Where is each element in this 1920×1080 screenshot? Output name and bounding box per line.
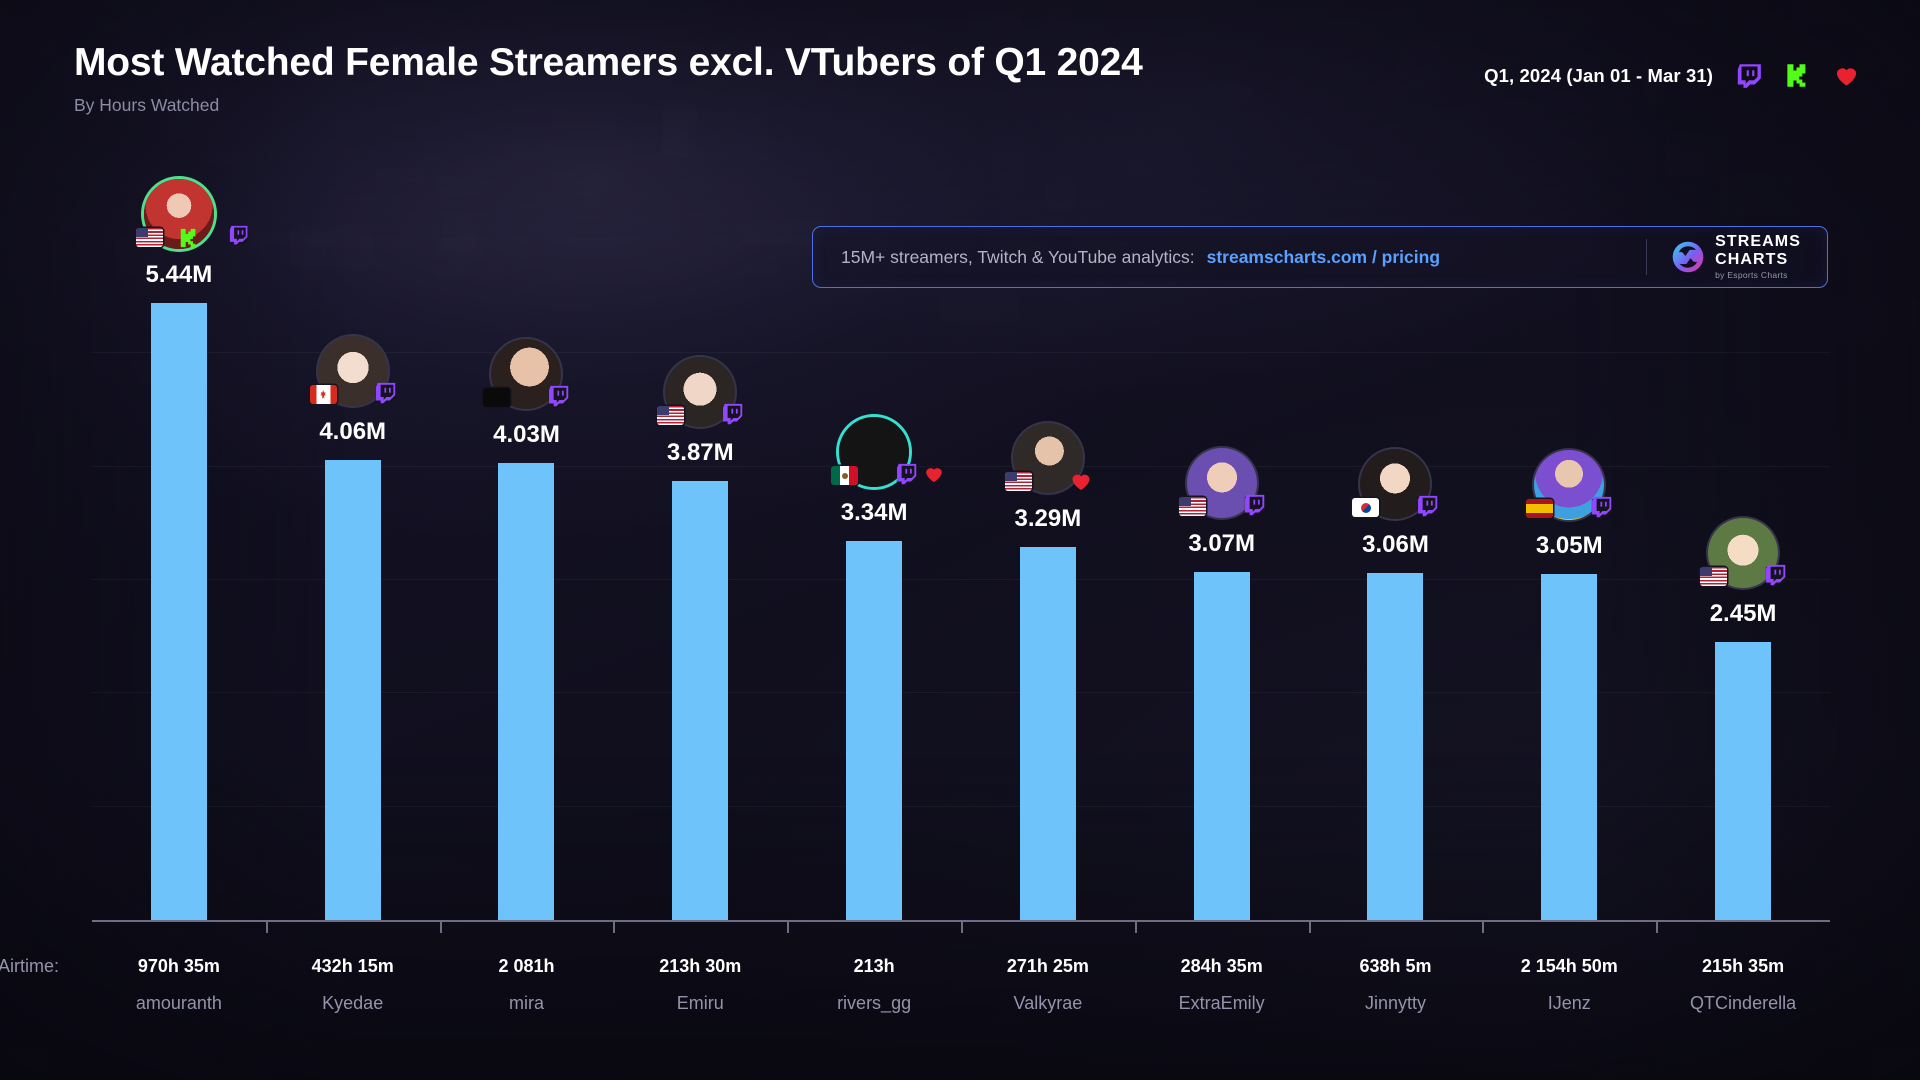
twitch-icon [547, 385, 571, 409]
bar-value-label: 3.34M [841, 499, 908, 527]
country-flag-badge [1352, 498, 1379, 517]
kick-icon [178, 227, 200, 249]
bar-chart: 5.44M4.06M4.03M3.87M3.34M3.29M3.07M3.06M… [92, 240, 1830, 920]
streamer-name: amouranth [92, 993, 266, 1014]
heart-icon [923, 463, 945, 485]
avatar[interactable] [1011, 421, 1085, 495]
bar-column[interactable]: 3.05M [1482, 240, 1656, 920]
bar[interactable] [498, 463, 554, 920]
axis-label-group: 2 154h 50mIJenz [1482, 935, 1656, 1055]
axis-label-group: 284h 35mExtraEmily [1135, 935, 1309, 1055]
avatar[interactable] [663, 355, 737, 429]
bar-value-label: 4.03M [493, 421, 560, 449]
bar-value-label: 4.06M [319, 418, 386, 446]
twitch-icon [1243, 494, 1267, 518]
airtime-value: 2 154h 50m [1482, 956, 1656, 977]
heart-icon [1833, 62, 1860, 89]
avatar[interactable] [316, 334, 390, 408]
country-flag-badge [310, 385, 337, 404]
bar-column[interactable]: 5.44M [92, 240, 266, 920]
twitch-icon [1764, 564, 1788, 588]
platform-badge [1764, 564, 1788, 588]
bar-value-label: 3.06M [1362, 531, 1429, 559]
streamer-name: ExtraEmily [1135, 993, 1309, 1014]
avatar[interactable] [1532, 448, 1606, 522]
country-flag-badge [1005, 472, 1032, 491]
bar-column[interactable]: 2.45M [1656, 240, 1830, 920]
streamer-name: QTCinderella [1656, 993, 1830, 1014]
country-flag-badge [831, 466, 858, 485]
platform-badge [178, 227, 200, 249]
bar[interactable] [1541, 574, 1597, 920]
country-flag-badge [483, 388, 510, 407]
axis-label-group: 2 081hmira [440, 935, 614, 1055]
twitch-icon [1735, 62, 1762, 89]
axis-tick [1309, 920, 1311, 933]
bar-value-label: 2.45M [1710, 600, 1777, 628]
axis-label-group: 638h 5mJinnytty [1309, 935, 1483, 1055]
platform-badge [1069, 469, 1093, 493]
streamer-name: mira [440, 993, 614, 1014]
bar-column[interactable]: 3.29M [961, 240, 1135, 920]
header-right: Q1, 2024 (Jan 01 - Mar 31) [1484, 62, 1860, 89]
bar-column[interactable]: 3.06M [1309, 240, 1483, 920]
bar[interactable] [1020, 547, 1076, 920]
platform-badge [1416, 495, 1440, 519]
streamer-name: Valkyrae [961, 993, 1135, 1014]
avatar[interactable] [1185, 446, 1259, 520]
country-flag-badge [1526, 499, 1553, 518]
twitch-icon [228, 225, 250, 247]
airtime-value: 284h 35m [1135, 956, 1309, 977]
platform-badge [228, 225, 250, 247]
bar[interactable] [1194, 572, 1250, 920]
bar-column[interactable]: 3.87M [613, 240, 787, 920]
axis-label-group: 213h 30mEmiru [613, 935, 787, 1055]
header: Most Watched Female Streamers excl. VTub… [74, 42, 1860, 152]
x-axis-labels: 970h 35mamouranth432h 15mKyedae2 081hmir… [92, 935, 1830, 1055]
bar[interactable] [672, 481, 728, 920]
airtime-value: 213h [787, 956, 961, 977]
platform-badge [721, 403, 745, 427]
streamer-name: Emiru [613, 993, 787, 1014]
country-flag-badge [657, 406, 684, 425]
bar[interactable] [846, 541, 902, 920]
axis-label-group: 970h 35mamouranth [92, 935, 266, 1055]
axis-tick [1656, 920, 1658, 933]
axis-tick [440, 920, 442, 933]
heart-icon [1069, 469, 1093, 493]
airtime-value: 970h 35m [92, 956, 266, 977]
streamer-name: IJenz [1482, 993, 1656, 1014]
twitch-icon [1590, 496, 1614, 520]
streamer-name: rivers_gg [787, 993, 961, 1014]
country-flag-badge [1179, 497, 1206, 516]
axis-tick [613, 920, 615, 933]
avatar[interactable] [142, 177, 216, 251]
platform-badge [923, 463, 945, 485]
bar-value-label: 5.44M [146, 261, 213, 289]
streamer-name: Kyedae [266, 993, 440, 1014]
axis-label-group: 432h 15mKyedae [266, 935, 440, 1055]
bar-column[interactable]: 4.06M [266, 240, 440, 920]
platform-badge [895, 463, 919, 487]
period-label: Q1, 2024 (Jan 01 - Mar 31) [1484, 65, 1713, 87]
bar-column[interactable]: 4.03M [440, 240, 614, 920]
platform-icons [1735, 62, 1860, 89]
country-flag-badge [136, 228, 163, 247]
airtime-value: 215h 35m [1656, 956, 1830, 977]
bar-value-label: 3.87M [667, 439, 734, 467]
airtime-value: 271h 25m [961, 956, 1135, 977]
streamer-name: Jinnytty [1309, 993, 1483, 1014]
airtime-value: 2 081h [440, 956, 614, 977]
bar-series: 5.44M4.06M4.03M3.87M3.34M3.29M3.07M3.06M… [92, 240, 1830, 920]
axis-label-group: 271h 25mValkyrae [961, 935, 1135, 1055]
axis-tick [1482, 920, 1484, 933]
axis-label-group: 213hrivers_gg [787, 935, 961, 1055]
platform-badge [547, 385, 571, 409]
twitch-icon [1416, 495, 1440, 519]
kick-icon [1784, 62, 1811, 89]
twitch-icon [374, 382, 398, 406]
avatar[interactable] [1358, 447, 1432, 521]
axis-tick [961, 920, 963, 933]
platform-badge [1243, 494, 1267, 518]
twitch-icon [721, 403, 745, 427]
axis-label-group: 215h 35mQTCinderella [1656, 935, 1830, 1055]
airtime-value: 432h 15m [266, 956, 440, 977]
bar[interactable] [151, 303, 207, 920]
airtime-value: 638h 5m [1309, 956, 1483, 977]
platform-badge [374, 382, 398, 406]
bar-value-label: 3.29M [1015, 505, 1082, 533]
bar-value-label: 3.07M [1188, 530, 1255, 558]
axis-tick [266, 920, 268, 933]
page-subtitle: By Hours Watched [74, 95, 1860, 116]
axis-tick [1135, 920, 1137, 933]
platform-badge [1590, 496, 1614, 520]
axis-tick [787, 920, 789, 933]
airtime-value: 213h 30m [613, 956, 787, 977]
avatar[interactable] [837, 415, 911, 489]
bar[interactable] [1367, 573, 1423, 920]
airtime-caption: Airtime: [0, 956, 59, 977]
bar[interactable] [1715, 642, 1771, 920]
avatar[interactable] [1706, 516, 1780, 590]
country-flag-badge [1700, 567, 1727, 586]
avatar[interactable] [489, 337, 563, 411]
twitch-icon [895, 463, 919, 487]
bar[interactable] [325, 460, 381, 920]
bar-column[interactable]: 3.07M [1135, 240, 1309, 920]
bar-column[interactable]: 3.34M [787, 240, 961, 920]
bar-value-label: 3.05M [1536, 532, 1603, 560]
